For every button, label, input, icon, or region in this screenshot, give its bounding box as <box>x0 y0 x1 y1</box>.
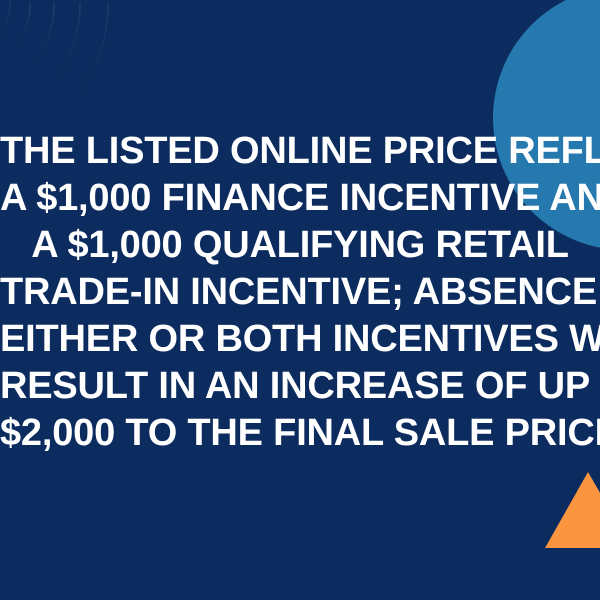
promo-disclaimer-banner: THE LISTED ONLINE PRICE REFLECTS A $1,00… <box>0 0 600 600</box>
headline-line-7: $2,000 TO THE FINAL SALE PRICE. <box>0 410 600 457</box>
orange-triangle-shape <box>545 472 600 548</box>
arc-ring-1 <box>0 0 10 56</box>
disclaimer-headline: THE LISTED ONLINE PRICE REFLECTS A $1,00… <box>0 128 600 457</box>
headline-line-3: A $1,000 QUALIFYING RETAIL <box>0 222 600 269</box>
headline-line-4: TRADE-IN INCENTIVE; ABSENCE OF <box>0 269 600 316</box>
headline-line-6: RESULT IN AN INCREASE OF UP TO <box>0 363 600 410</box>
arc-ring-3 <box>0 0 54 100</box>
arc-ring-4 <box>0 0 80 126</box>
headline-line-2: A $1,000 FINANCE INCENTIVE AND <box>0 175 600 222</box>
headline-line-5: EITHER OR BOTH INCENTIVES WILL <box>0 316 600 363</box>
arc-ring-2 <box>0 0 30 76</box>
headline-line-1: THE LISTED ONLINE PRICE REFLECTS <box>0 128 600 175</box>
